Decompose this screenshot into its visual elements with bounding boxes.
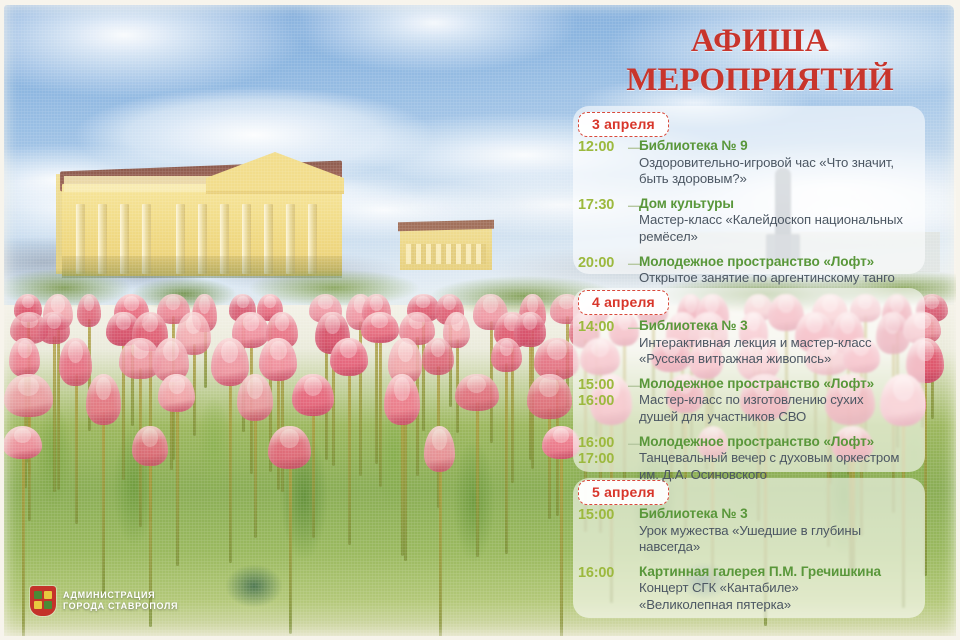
tulip-flower (158, 374, 195, 412)
tulip-stem (312, 405, 315, 538)
tulip-flower (424, 426, 456, 472)
event-time-separator (628, 564, 639, 613)
event-time: 14:00 (578, 318, 628, 367)
event-row[interactable]: 14:00—Библиотека № 3Интерактивная лекция… (578, 318, 928, 367)
tulip-stem (289, 458, 292, 634)
title-line-1: АФИША (691, 23, 829, 59)
event-time-separator: — (628, 254, 639, 287)
event-time-value: 16:00 (578, 435, 628, 452)
event-text: Молодежное пространство «Лофт»Танцевальн… (639, 434, 928, 483)
event-time-value: 15:00 (578, 507, 628, 524)
event-list-day-3: 15:00Библиотека № 3Урок мужества «Ушедши… (578, 506, 928, 622)
event-poster: АФИША МЕРОПРИЯТИЙ 3 апреля 4 апреля 5 ап… (0, 0, 960, 640)
event-time: 20:00 (578, 254, 628, 287)
event-time-value: 16:00 (578, 393, 628, 410)
tulip-flower (361, 312, 399, 343)
event-time: 16:0017:00 (578, 434, 628, 483)
event-list-day-1: 12:00—Библиотека № 9Оздоровительно-игров… (578, 138, 928, 296)
event-description-line: навсегда» (639, 539, 928, 555)
tulip-flower (77, 294, 101, 327)
event-row[interactable]: 12:00—Библиотека № 9Оздоровительно-игров… (578, 138, 928, 187)
tulip-flower (4, 374, 52, 417)
tulip-flower (527, 374, 572, 419)
building-pediment (206, 152, 344, 194)
tulip-stem (439, 460, 442, 640)
event-description-line: Урок мужества «Ушедшие в глубины (639, 523, 928, 539)
event-description: Открытое занятие по аргентинскому танго (639, 270, 928, 286)
event-description: Мастер-класс «Калейдоскоп национальныхре… (639, 212, 928, 244)
tulip-flower (3, 426, 43, 459)
event-time-value: 15:00 (578, 377, 628, 394)
event-list-day-2: 14:00—Библиотека № 3Интерактивная лекция… (578, 318, 928, 492)
event-row[interactable]: 20:00—Молодежное пространство «Лофт»Откр… (578, 254, 928, 287)
tulip-stem (22, 451, 25, 640)
event-venue[interactable]: Картинная галерея П.М. Гречишкина (639, 564, 928, 581)
tulip-flower (59, 338, 92, 386)
event-description-line: Концерт СГК «Кантабиле» (639, 580, 928, 596)
tulip-flower (38, 312, 70, 344)
tulip-flower (330, 338, 368, 376)
event-description: Концерт СГК «Кантабиле» «Великолепная пя… (639, 580, 928, 612)
event-text: Библиотека № 3Урок мужества «Ушедшие в г… (639, 506, 928, 555)
tulip-flower (514, 312, 545, 347)
event-time-separator: — (628, 318, 639, 367)
event-text: Молодежное пространство «Лофт»Открытое з… (639, 254, 928, 287)
event-description: Танцевальный вечер с духовым оркестромим… (639, 450, 928, 482)
coat-of-arms-shield-icon (30, 586, 56, 616)
logo-line-1: АДМИНИСТРАЦИЯ (63, 590, 178, 601)
tulip-flower (384, 374, 420, 425)
event-time-separator: — (628, 434, 639, 483)
event-venue[interactable]: Молодежное пространство «Лофт» (639, 376, 928, 393)
tulip-stem (476, 402, 479, 558)
title-line-2: МЕРОПРИЯТИЙ (560, 61, 960, 100)
logo-line-2: ГОРОДА СТАВРОПОЛЯ (63, 601, 178, 612)
event-time: 12:00 (578, 138, 628, 187)
event-description-line: им. Д.А. Осиновского (639, 467, 928, 483)
event-time-value: 16:00 (578, 565, 628, 582)
tulip-stem (75, 374, 78, 524)
event-time-value: 14:00 (578, 319, 628, 336)
tulip-flower (9, 338, 40, 377)
event-venue[interactable]: Дом культуры (639, 196, 928, 213)
tulip-flower (268, 426, 311, 469)
event-row[interactable]: 16:0017:00—Молодежное пространство «Лофт… (578, 434, 928, 483)
event-description-line: быть здоровым?» (639, 171, 928, 187)
event-description-line: душей для участников СВО (639, 409, 928, 425)
event-description: Интерактивная лекция и мастер-класс«Русс… (639, 335, 928, 367)
event-description-line: Оздоровительно-игровой час «Что значит, (639, 155, 928, 171)
event-description-line: Танцевальный вечер с духовым оркестром (639, 450, 928, 466)
event-time-value: 20:00 (578, 255, 628, 272)
tulip-stem (379, 335, 382, 486)
event-time-value: 12:00 (578, 139, 628, 156)
tulip-flower (292, 374, 333, 416)
tulip-stem (102, 412, 105, 594)
tulip-flower (455, 374, 498, 411)
logo-text: АДМИНИСТРАЦИЯ ГОРОДА СТАВРОПОЛЯ (63, 590, 178, 612)
poster-title: АФИША МЕРОПРИЯТИЙ (560, 22, 960, 99)
event-row[interactable]: 16:00Картинная галерея П.М. ГречишкинаКо… (578, 564, 928, 613)
event-description-line: Интерактивная лекция и мастер-класс (639, 335, 928, 351)
event-description: Оздоровительно-игровой час «Что значит,б… (639, 155, 928, 187)
date-badge-day-1: 3 апреля (578, 112, 669, 137)
event-time-separator: — (628, 138, 639, 187)
event-time-separator: — (628, 376, 639, 425)
event-description-line: Мастер-класс по изготовлению сухих (639, 392, 928, 408)
tulip-stem (53, 336, 56, 492)
event-time-value: 17:00 (578, 451, 628, 468)
event-text: Библиотека № 9Оздоровительно-игровой час… (639, 138, 928, 187)
event-venue[interactable]: Молодежное пространство «Лофт» (639, 434, 928, 451)
event-row[interactable]: 15:0016:00—Молодежное пространство «Лофт… (578, 376, 928, 425)
event-time: 15:00 (578, 506, 628, 555)
event-venue[interactable]: Библиотека № 3 (639, 506, 928, 523)
tulip-flower (86, 374, 122, 425)
tulip-stem (28, 406, 31, 521)
event-time-value: 17:30 (578, 197, 628, 214)
event-time: 15:0016:00 (578, 376, 628, 425)
tulip-stem (560, 451, 563, 640)
event-row[interactable]: 17:30—Дом культурыМастер-класс «Калейдос… (578, 196, 928, 245)
event-time-separator (628, 506, 639, 555)
event-description-line: ремёсел» (639, 229, 928, 245)
administration-logo: АДМИНИСТРАЦИЯ ГОРОДА СТАВРОПОЛЯ (30, 586, 178, 616)
event-venue[interactable]: Библиотека № 3 (639, 318, 928, 335)
tulip-stem (254, 410, 257, 538)
event-time: 17:30 (578, 196, 628, 245)
tulip-stem (176, 402, 179, 566)
event-venue[interactable]: Библиотека № 9 (639, 138, 928, 155)
event-venue[interactable]: Молодежное пространство «Лофт» (639, 254, 928, 271)
tulip-flower (491, 338, 522, 372)
event-description-line: Мастер-класс «Калейдоскоп национальных (639, 212, 928, 228)
event-description-line: «Великолепная пятерка» (639, 597, 928, 613)
event-description: Мастер-класс по изготовлению сухихдушей … (639, 392, 928, 424)
tulip-flower (237, 374, 273, 421)
event-description-line: Открытое занятие по аргентинскому танго (639, 270, 928, 286)
event-time-separator: — (628, 196, 639, 245)
event-text: Библиотека № 3Интерактивная лекция и мас… (639, 318, 928, 367)
event-row[interactable]: 15:00Библиотека № 3Урок мужества «Ушедши… (578, 506, 928, 555)
tulip-stem (505, 363, 508, 554)
event-text: Молодежное пространство «Лофт»Мастер-кла… (639, 376, 928, 425)
event-text: Дом культурыМастер-класс «Калейдоскоп на… (639, 196, 928, 245)
tulip-stem (401, 412, 404, 555)
tulip-flower (132, 426, 168, 466)
tulip-stem (348, 366, 351, 545)
event-time: 16:00 (578, 564, 628, 613)
event-text: Картинная галерея П.М. ГречишкинаКонцерт… (639, 564, 928, 613)
tulip-stem (229, 374, 232, 563)
event-description-line: «Русская витражная живопись» (639, 351, 928, 367)
event-description: Урок мужества «Ушедшие в глубинынавсегда… (639, 523, 928, 555)
tulip-stem (548, 408, 551, 520)
tulip-stem (57, 321, 60, 490)
